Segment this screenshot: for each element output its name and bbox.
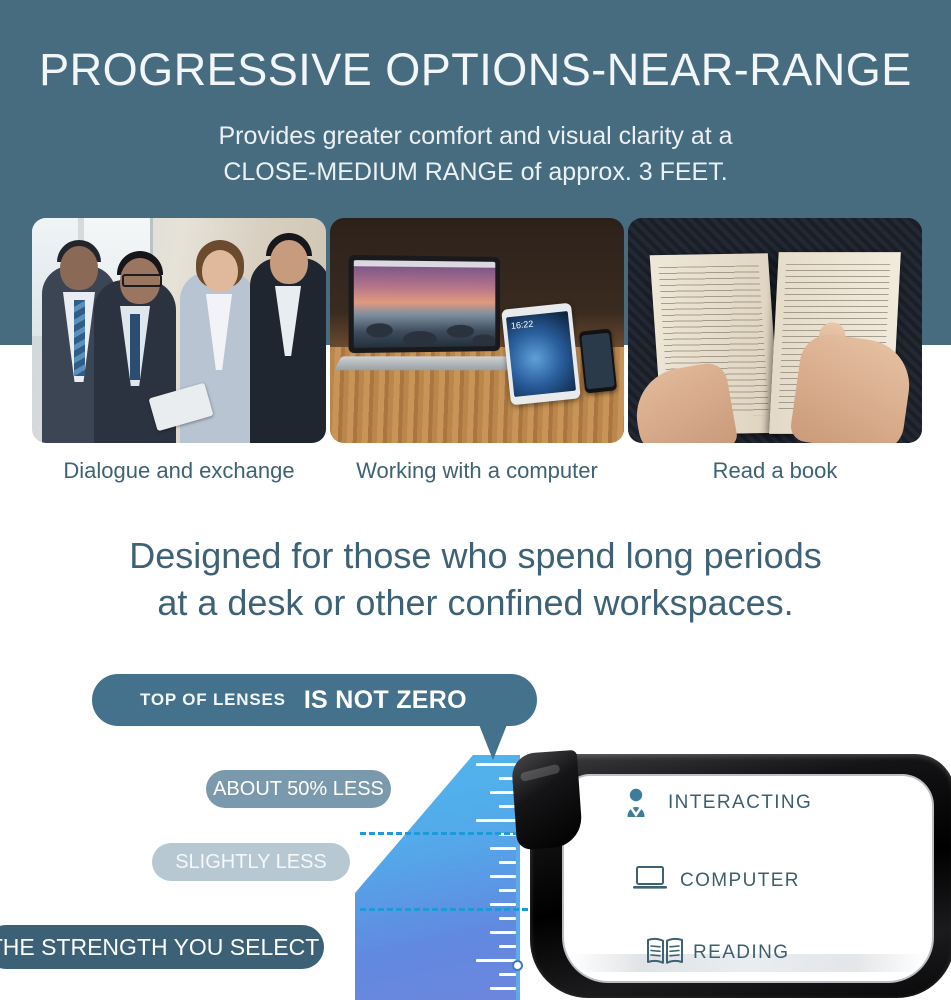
photo-caption-2: Working with a computer bbox=[330, 458, 624, 484]
zone-computer-label: COMPUTER bbox=[680, 870, 800, 892]
photo-working-with-a-computer: 16:22 bbox=[330, 218, 624, 443]
open-book-icon bbox=[645, 936, 679, 970]
subtitle-line-2: CLOSE-MEDIUM RANGE of approx. 3 FEET. bbox=[0, 154, 951, 190]
headline-line-2: at a desk or other confined workspaces. bbox=[0, 579, 951, 626]
page-title: PROGRESSIVE OPTIONS-NEAR-RANGE bbox=[0, 44, 951, 96]
callout-top-of-lenses: TOP OF LENSES IS NOT ZERO bbox=[92, 674, 537, 726]
laptop-icon bbox=[632, 864, 666, 898]
subtitle-line-1: Provides greater comfort and visual clar… bbox=[0, 118, 951, 154]
photo-caption-3: Read a book bbox=[628, 458, 922, 484]
photo-dialogue-and-exchange bbox=[32, 218, 326, 443]
section-headline: Designed for those who spend long period… bbox=[0, 532, 951, 626]
eyeglasses-illustration: INTERACTING COMPUTER bbox=[520, 746, 951, 1000]
page-subtitle: Provides greater comfort and visual clar… bbox=[0, 118, 951, 190]
glasses-temple-hinge bbox=[511, 750, 584, 850]
pill-about-50-percent-less: ABOUT 50% LESS bbox=[206, 770, 391, 808]
callout-small-text: TOP OF LENSES bbox=[140, 690, 286, 710]
callout-big-text: IS NOT ZERO bbox=[304, 686, 467, 715]
zone-reading-label: READING bbox=[693, 942, 789, 964]
zone-reading: READING bbox=[645, 936, 789, 970]
infographic-page: PROGRESSIVE OPTIONS-NEAR-RANGE Provides … bbox=[0, 0, 951, 1000]
person-bust-icon bbox=[620, 786, 654, 820]
headline-line-1: Designed for those who spend long period… bbox=[0, 532, 951, 579]
zone-interacting-label: INTERACTING bbox=[668, 792, 812, 814]
zone-computer: COMPUTER bbox=[632, 864, 800, 898]
pill-slightly-less: SLIGHTLY LESS bbox=[152, 843, 350, 881]
photo-caption-1: Dialogue and exchange bbox=[32, 458, 326, 484]
pill-the-strength-you-select: THE STRENGTH YOU SELECT bbox=[0, 925, 324, 969]
zone-interacting: INTERACTING bbox=[620, 786, 812, 820]
photo-read-a-book bbox=[628, 218, 922, 443]
callout-tail bbox=[478, 722, 508, 760]
